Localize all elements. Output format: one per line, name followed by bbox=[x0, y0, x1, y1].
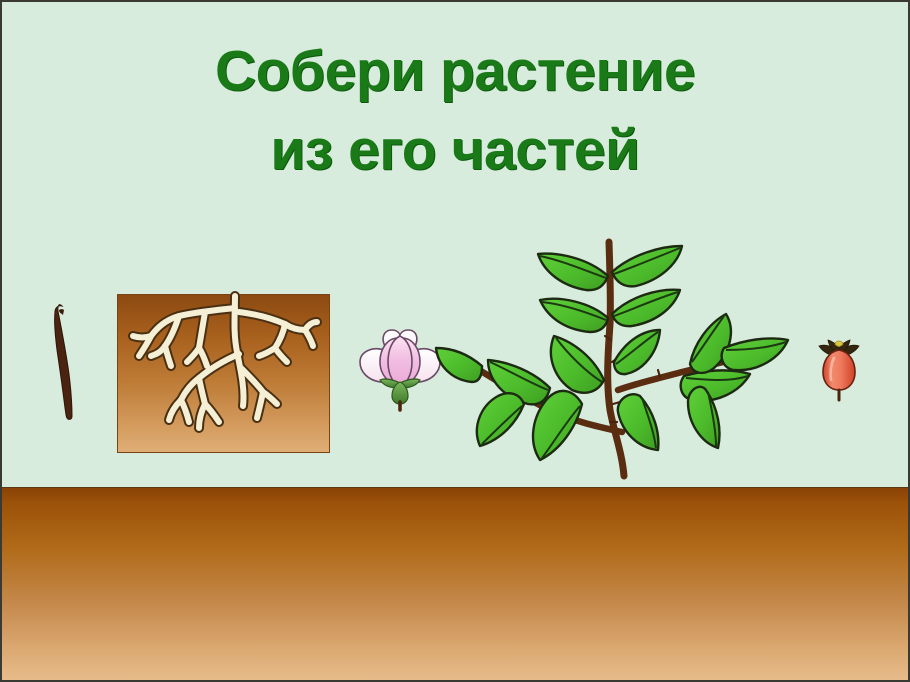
plant-part-stem[interactable] bbox=[42, 302, 90, 422]
plant-part-roots[interactable] bbox=[117, 294, 330, 453]
soil-band bbox=[2, 487, 908, 682]
fruit-icon bbox=[814, 338, 864, 400]
stem-icon bbox=[42, 302, 90, 422]
title-line-1: Собери растение bbox=[2, 32, 908, 111]
leafy-branch-icon bbox=[454, 232, 794, 482]
title-line-2: из его частей bbox=[2, 111, 908, 190]
roots-icon bbox=[117, 294, 330, 453]
plant-part-flower[interactable] bbox=[354, 328, 446, 410]
plant-part-leafy-branch[interactable] bbox=[454, 232, 794, 482]
page-title: Собери растение из его частей bbox=[2, 32, 908, 189]
flower-icon bbox=[354, 328, 446, 410]
plant-part-fruit[interactable] bbox=[814, 338, 864, 400]
slide-canvas: Собери растение из его частей bbox=[0, 0, 910, 682]
